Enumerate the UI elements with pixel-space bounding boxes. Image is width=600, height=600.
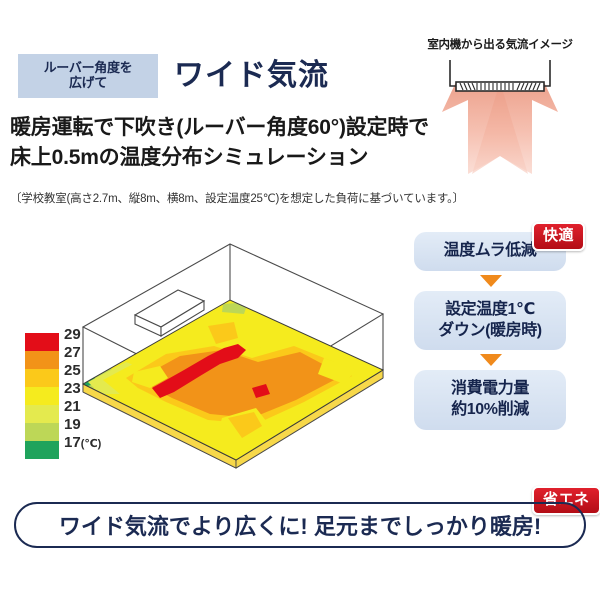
legend-unit-label: (℃) bbox=[81, 438, 102, 450]
airflow-diagram: 室内機から出る気流イメージ bbox=[404, 36, 596, 186]
subtitle: 暖房運転で下吹き(ルーバー角度60°)設定時で 床上0.5mの温度分布シミュレー… bbox=[10, 113, 440, 173]
benefit-box-setpoint-reduction: 設定温度1℃ ダウン(暖房時) bbox=[414, 291, 566, 351]
legend-tick-19: 19 bbox=[64, 416, 122, 434]
legend-swatch-23 bbox=[25, 387, 59, 405]
louver-angle-tag: ルーバー角度を 広げて bbox=[18, 54, 158, 98]
arrow-down-icon-2 bbox=[480, 354, 502, 366]
legend-color-bar bbox=[24, 332, 60, 458]
benefit-box-temperature-evenness: 快適 温度ムラ低減 bbox=[414, 232, 566, 271]
legend-tick-labels: 29272523211917(℃) bbox=[64, 326, 122, 452]
legend-swatch-29 bbox=[25, 333, 59, 351]
infographic-root: ルーバー角度を 広げて ワイド気流 暖房運転で下吹き(ルーバー角度60°)設定時… bbox=[0, 0, 600, 600]
temperature-heatmap: 29272523211917(℃) bbox=[8, 222, 398, 490]
benefit-line-2a: 設定温度1℃ bbox=[418, 300, 562, 321]
legend-tick-25: 25 bbox=[64, 362, 122, 380]
footnote: 〔学校教室(高さ2.7m、縦8m、横8m、設定温度25℃)を想定した負荷に基づい… bbox=[10, 190, 464, 206]
indoor-unit bbox=[450, 60, 550, 91]
benefit-line-3a: 消費電力量 bbox=[418, 379, 562, 400]
louver-angle-tag-line2: 広げて bbox=[69, 76, 107, 91]
bottom-banner: ワイド気流でより広くに! 足元までしっかり暖房! bbox=[14, 502, 586, 548]
arrow-down-icon-1 bbox=[480, 275, 502, 287]
bottom-banner-text: ワイド気流でより広くに! 足元までしっかり暖房! bbox=[59, 509, 541, 541]
badge-comfort: 快適 bbox=[532, 222, 585, 251]
legend-swatch-19 bbox=[25, 423, 59, 441]
legend-swatch-21 bbox=[25, 405, 59, 423]
legend-swatch-25 bbox=[25, 369, 59, 387]
benefit-line-3b: 約10%削減 bbox=[418, 400, 562, 421]
legend-tick-17: 17(℃) bbox=[64, 434, 122, 452]
temperature-plane bbox=[83, 300, 383, 468]
legend-swatch-17 bbox=[25, 441, 59, 459]
legend-swatch-27 bbox=[25, 351, 59, 369]
benefit-line-2b: ダウン(暖房時) bbox=[418, 321, 562, 342]
subtitle-line1: 暖房運転で下吹き(ルーバー角度60°)設定時で bbox=[10, 113, 440, 143]
airflow-diagram-label: 室内機から出る気流イメージ bbox=[404, 36, 596, 52]
benefits-column: 快適 温度ムラ低減 設定温度1℃ ダウン(暖房時) 省エネ 消費電力量 約10%… bbox=[400, 232, 596, 430]
legend-tick-21: 21 bbox=[64, 398, 122, 416]
legend-tick-23: 23 bbox=[64, 380, 122, 398]
band-19b bbox=[222, 302, 248, 314]
legend-tick-29: 29 bbox=[64, 326, 122, 344]
legend-tick-27: 27 bbox=[64, 344, 122, 362]
louver-angle-tag-line1: ルーバー角度を bbox=[44, 61, 133, 76]
page-title: ワイド気流 bbox=[174, 50, 329, 94]
airflow-illustration bbox=[404, 56, 596, 186]
subtitle-line2: 床上0.5mの温度分布シミュレーション bbox=[10, 143, 440, 173]
benefit-box-power-saving: 省エネ 消費電力量 約10%削減 bbox=[414, 370, 566, 430]
